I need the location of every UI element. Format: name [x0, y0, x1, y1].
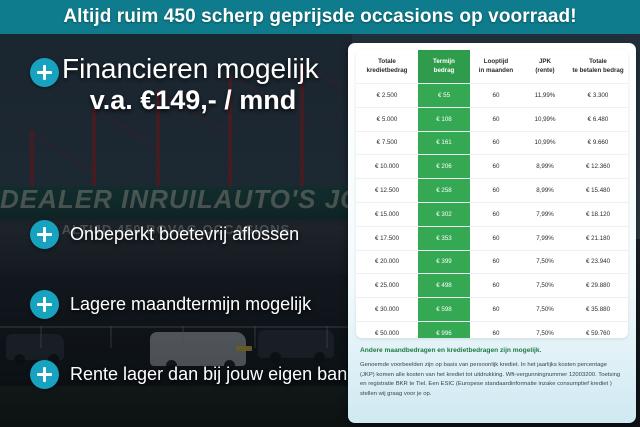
- table-cell: 60: [470, 321, 522, 338]
- table-cell: € 59.760: [568, 321, 628, 338]
- finance-info-card: TotalekredietbedragTermijnbedragLooptijd…: [348, 43, 636, 423]
- table-cell: 7,99%: [522, 202, 568, 226]
- table-cell: € 18.120: [568, 202, 628, 226]
- promo-headline-line2: v.a. €149,- / mnd: [62, 85, 352, 116]
- promo-bullet-1: Onbeperkt boetevrij aflossen: [30, 220, 299, 249]
- table-cell: € 598: [418, 298, 470, 322]
- table-cell: € 15.480: [568, 179, 628, 203]
- table-cell: € 2.500: [356, 84, 418, 108]
- table-cell: 60: [470, 155, 522, 179]
- table-row: € 20.000€ 399607,50%€ 23.940: [356, 250, 628, 274]
- table-cell: € 12.500: [356, 179, 418, 203]
- plus-icon: [30, 290, 59, 319]
- table-cell: € 9.660: [568, 131, 628, 155]
- table-cell: € 15.000: [356, 202, 418, 226]
- table-row: € 25.000€ 498607,50%€ 29.880: [356, 274, 628, 298]
- table-cell: € 50.000: [356, 321, 418, 338]
- table-cell: € 29.880: [568, 274, 628, 298]
- table-cell: 8,99%: [522, 179, 568, 203]
- table-cell: 10,99%: [522, 107, 568, 131]
- table-header-cell: Totalete betalen bedrag: [568, 50, 628, 84]
- promo-bullet-2: Lagere maandtermijn mogelijk: [30, 290, 311, 319]
- table-cell: € 161: [418, 131, 470, 155]
- plus-icon: [30, 58, 59, 87]
- table-cell: € 302: [418, 202, 470, 226]
- table-cell: 60: [470, 107, 522, 131]
- table-cell: € 20.000: [356, 250, 418, 274]
- card-note: Andere maandbedragen en kredietbedragen …: [360, 347, 626, 356]
- top-banner-text: Altijd ruim 450 scherp geprijsde occasio…: [63, 6, 576, 28]
- table-cell: € 21.180: [568, 226, 628, 250]
- promo-bullet-2-label: Lagere maandtermijn mogelijk: [70, 294, 311, 315]
- table-cell: € 5.000: [356, 107, 418, 131]
- table-header-cell: Totalekredietbedrag: [356, 50, 418, 84]
- table-header-cell: JPK(rente): [522, 50, 568, 84]
- table-row: € 2.500€ 556011,99%€ 3.300: [356, 84, 628, 108]
- table-header-cell: Termijnbedrag: [418, 50, 470, 84]
- table-cell: 60: [470, 84, 522, 108]
- table-cell: 60: [470, 298, 522, 322]
- table-row: € 15.000€ 302607,99%€ 18.120: [356, 202, 628, 226]
- table-cell: 7,50%: [522, 250, 568, 274]
- table-cell: 7,50%: [522, 321, 568, 338]
- table-cell: € 55: [418, 84, 470, 108]
- promo-headline-line1: Financieren mogelijk: [62, 54, 352, 83]
- table-cell: 60: [470, 226, 522, 250]
- table-row: € 5.000€ 1086010,99%€ 6.480: [356, 107, 628, 131]
- table-cell: € 12.360: [568, 155, 628, 179]
- table-cell: € 258: [418, 179, 470, 203]
- table-cell: 11,99%: [522, 84, 568, 108]
- table-cell: 7,50%: [522, 298, 568, 322]
- promo-headline: Financieren mogelijk v.a. €149,- / mnd: [62, 54, 352, 116]
- table-cell: € 30.000: [356, 298, 418, 322]
- table-row: € 30.000€ 598607,50%€ 35.880: [356, 298, 628, 322]
- table-row: € 12.500€ 258608,99%€ 15.480: [356, 179, 628, 203]
- card-fine-print: Genoemde voorbeelden zijn op basis van p…: [360, 361, 622, 399]
- table-cell: € 108: [418, 107, 470, 131]
- table-cell: € 6.480: [568, 107, 628, 131]
- table-cell: 60: [470, 131, 522, 155]
- table-row: € 10.000€ 206608,99%€ 12.360: [356, 155, 628, 179]
- table-body: € 2.500€ 556011,99%€ 3.300€ 5.000€ 10860…: [356, 84, 628, 339]
- table-cell: € 399: [418, 250, 470, 274]
- table-cell: € 3.300: [568, 84, 628, 108]
- promo-column: Financieren mogelijk v.a. €149,- / mnd O…: [0, 34, 352, 427]
- finance-table: TotalekredietbedragTermijnbedragLooptijd…: [356, 50, 628, 338]
- table-cell: € 25.000: [356, 274, 418, 298]
- table-cell: € 206: [418, 155, 470, 179]
- table-cell: 7,99%: [522, 226, 568, 250]
- table-header-cell: Looptijdin maanden: [470, 50, 522, 84]
- table-cell: 60: [470, 202, 522, 226]
- table-cell: € 23.940: [568, 250, 628, 274]
- table-cell: € 10.000: [356, 155, 418, 179]
- table-cell: € 17.500: [356, 226, 418, 250]
- table-row: € 50.000€ 996607,50%€ 59.760: [356, 321, 628, 338]
- table-cell: 60: [470, 250, 522, 274]
- promo-bullet-1-label: Onbeperkt boetevrij aflossen: [70, 224, 299, 245]
- plus-icon: [30, 220, 59, 249]
- advertisement-banner: DEALER INRUILAUTO'S JOHAN MEURE ALTIJD 4…: [0, 0, 640, 427]
- table-cell: 8,99%: [522, 155, 568, 179]
- table-cell: 60: [470, 179, 522, 203]
- plus-icon: [30, 360, 59, 389]
- table-row: € 17.500€ 353607,99%€ 21.180: [356, 226, 628, 250]
- table-cell: 60: [470, 274, 522, 298]
- table-cell: € 7.500: [356, 131, 418, 155]
- table-header-row: TotalekredietbedragTermijnbedragLooptijd…: [356, 50, 628, 84]
- table-cell: € 498: [418, 274, 470, 298]
- promo-bullet-3-label: Rente lager dan bij jouw eigen bank: [70, 364, 356, 385]
- promo-bullet-3: Rente lager dan bij jouw eigen bank: [30, 360, 356, 389]
- table-cell: 7,50%: [522, 274, 568, 298]
- table-row: € 7.500€ 1616010,99%€ 9.660: [356, 131, 628, 155]
- table-cell: € 353: [418, 226, 470, 250]
- top-banner: Altijd ruim 450 scherp geprijsde occasio…: [0, 0, 640, 34]
- finance-table-container: TotalekredietbedragTermijnbedragLooptijd…: [356, 50, 628, 338]
- table-cell: € 996: [418, 321, 470, 338]
- table-cell: 10,99%: [522, 131, 568, 155]
- table-cell: € 35.880: [568, 298, 628, 322]
